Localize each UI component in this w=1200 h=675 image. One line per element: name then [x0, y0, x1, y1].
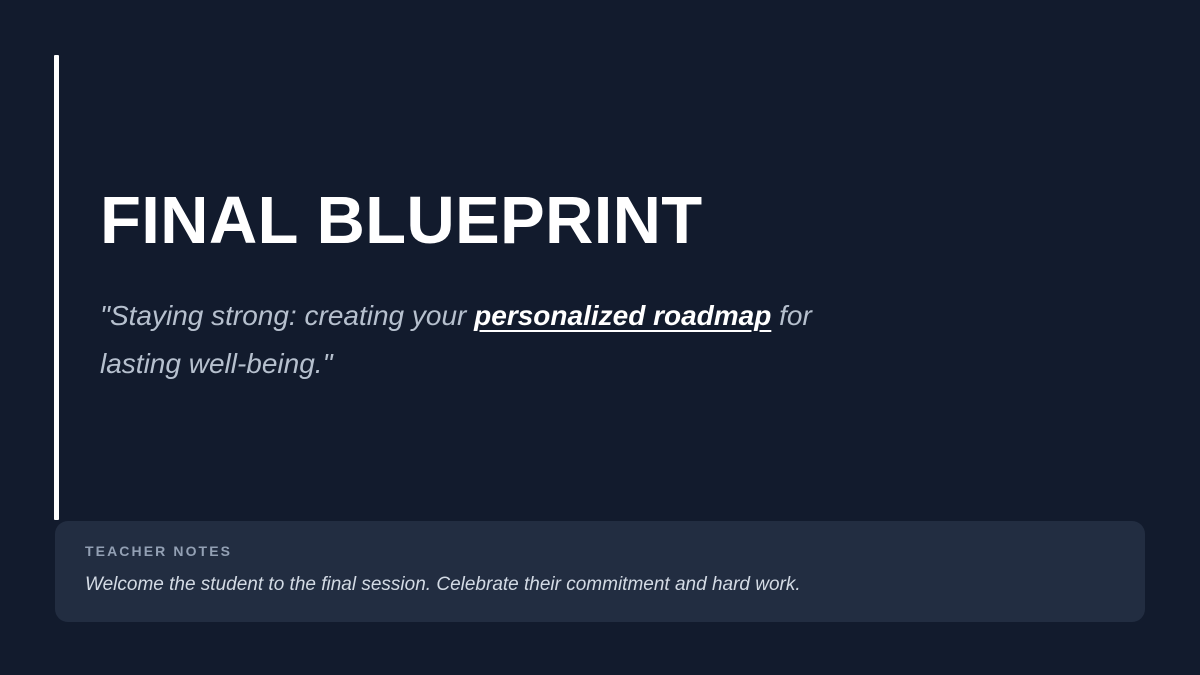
presentation-slide: FINAL BLUEPRINT "Staying strong: creatin…: [0, 0, 1200, 675]
page-title: FINAL BLUEPRINT: [100, 186, 703, 256]
teacher-notes-label: TEACHER NOTES: [85, 543, 1115, 559]
slide-subtitle: "Staying strong: creating your personali…: [100, 292, 880, 388]
subtitle-emphasis-text: personalized roadmap: [474, 300, 771, 331]
teacher-notes-body: Welcome the student to the final session…: [85, 573, 1115, 598]
subtitle-lead-text: "Staying strong: creating your: [100, 300, 474, 331]
teacher-notes-panel: TEACHER NOTES Welcome the student to the…: [55, 521, 1145, 622]
left-accent-bar: [54, 55, 59, 520]
